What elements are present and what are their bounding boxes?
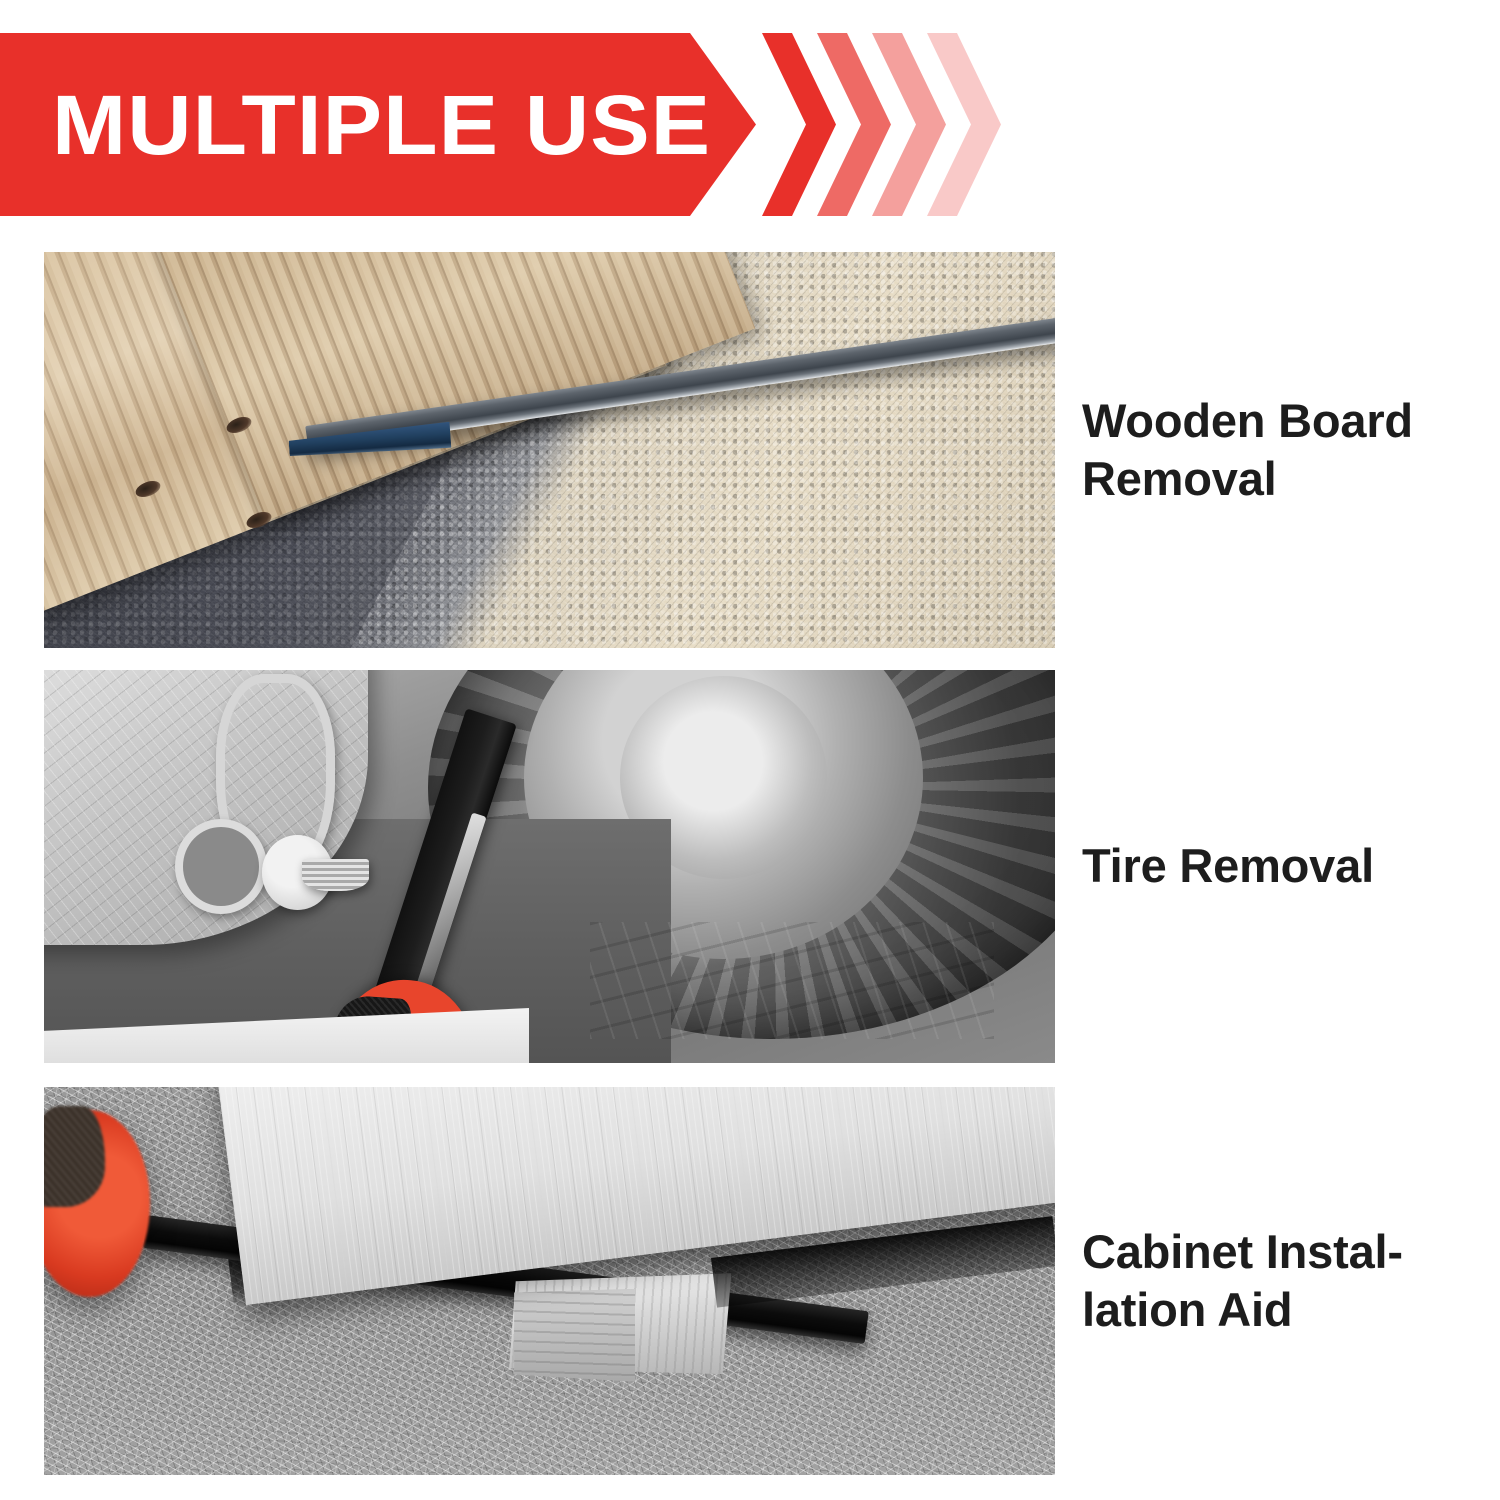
tire-sidewall-lettering (590, 922, 994, 1040)
threaded-bolt (302, 859, 369, 891)
caption-line: Wooden Board (1082, 392, 1464, 450)
feature-row-wooden-board-removal: Wooden Board Removal (44, 252, 1464, 648)
feature-photo-tire-removal (44, 670, 1055, 1063)
feature-photo-cabinet-installation-aid (44, 1087, 1055, 1475)
feature-row-tire-removal: Tire Removal (44, 670, 1464, 1063)
caption-line: Removal (1082, 450, 1464, 508)
wooden-shim-front-face (514, 1289, 635, 1382)
hook-eyelet (175, 819, 267, 914)
feature-photo-wooden-board-removal (44, 252, 1055, 648)
header-banner: MULTIPLE USE (0, 33, 960, 216)
banner-title: MULTIPLE USE (52, 33, 711, 216)
feature-row-cabinet-installation-aid: Cabinet Instal- lation Aid (44, 1087, 1464, 1475)
handle-rubber-grip (44, 1106, 105, 1207)
feature-caption-tire-removal: Tire Removal (1082, 670, 1464, 1063)
feature-caption-wooden-board-removal: Wooden Board Removal (1082, 252, 1464, 648)
feature-caption-cabinet-installation-aid: Cabinet Instal- lation Aid (1082, 1087, 1464, 1475)
chevron-arrow-icon-1 (762, 33, 836, 216)
caption-line: lation Aid (1082, 1281, 1464, 1339)
caption-line: Cabinet Instal- (1082, 1223, 1464, 1281)
caption-line: Tire Removal (1082, 837, 1464, 895)
